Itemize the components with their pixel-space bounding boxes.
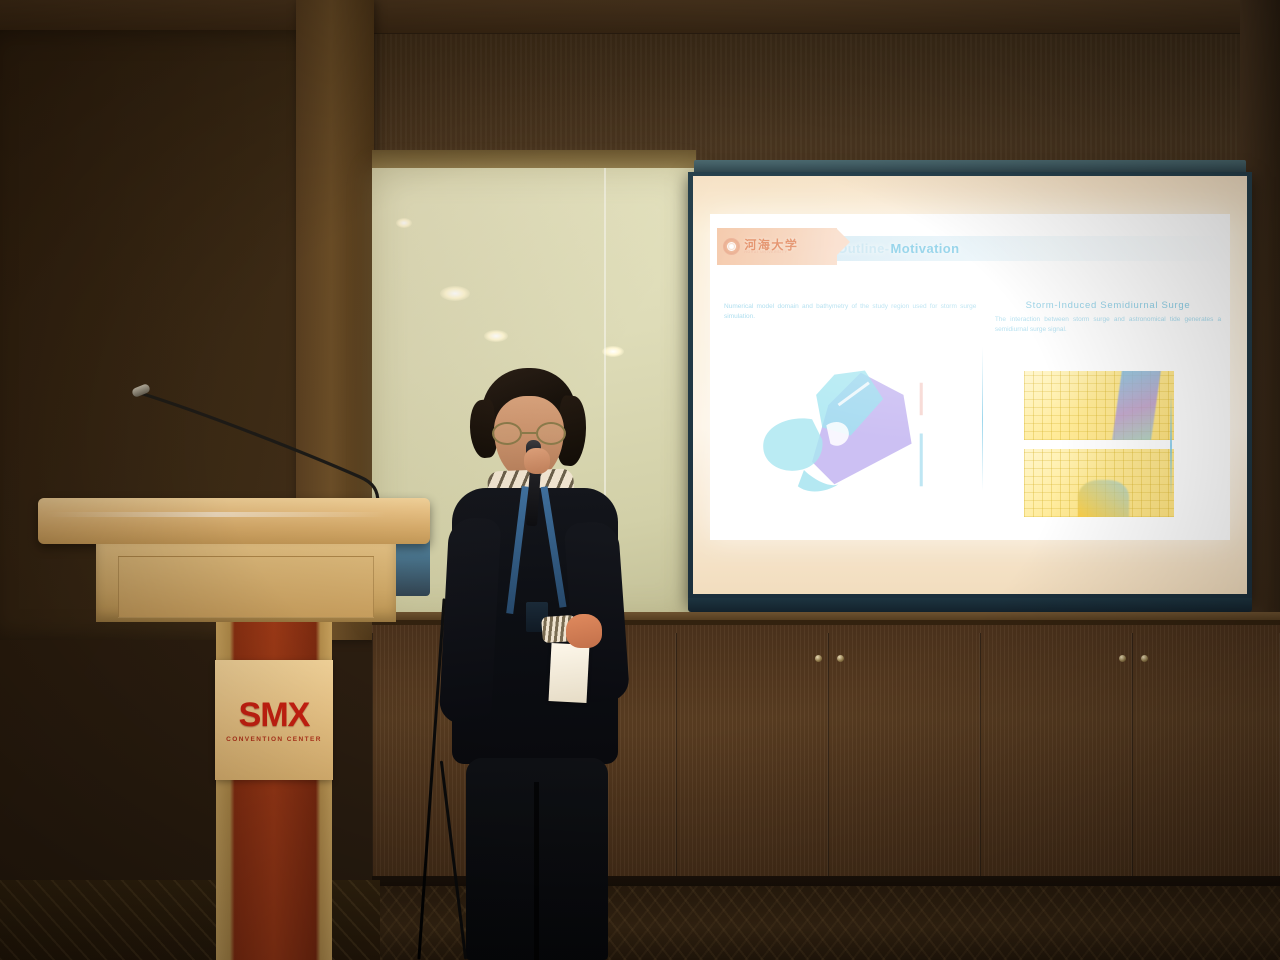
time-series-panels — [1024, 371, 1174, 521]
eyeglass-bridge — [522, 432, 536, 434]
presenter-arm-left — [439, 517, 502, 725]
cabinet-knob-icon[interactable] — [837, 655, 844, 662]
conference-presentation-photo: Outline- Motivation 河海大学 HOHAI UNIVERSIT… — [0, 0, 1280, 960]
screen-surface: Outline- Motivation 河海大学 HOHAI UNIVERSIT… — [693, 176, 1247, 594]
eyeglass-lens-right — [536, 422, 566, 445]
slide-right-column: Storm-Induced Semidiurnal Surge The inte… — [991, 298, 1225, 539]
screen-frame: Outline- Motivation 河海大学 HOHAI UNIVERSIT… — [688, 172, 1252, 603]
cabinet-knob-icon[interactable] — [1141, 655, 1148, 662]
venue-brand-name: SMX — [239, 698, 310, 732]
presentation-slide: Outline- Motivation 河海大学 HOHAI UNIVERSIT… — [710, 214, 1231, 540]
chart-colorbar — [1170, 392, 1172, 500]
cabinet-knob-icon[interactable] — [815, 655, 822, 662]
slide-title-motivation: Motivation — [891, 241, 960, 256]
presenter — [430, 362, 650, 960]
slide-body: Numerical model domain and bathymetry of… — [710, 298, 1231, 539]
right-body-text: The interaction between storm surge and … — [991, 311, 1225, 335]
university-logo-banner: 河海大学 HOHAI UNIVERSITY — [717, 228, 837, 265]
university-seal-icon — [723, 238, 740, 255]
eyeglass-lens-left — [492, 422, 522, 445]
paper-notes — [549, 643, 590, 703]
cabinet-door[interactable] — [980, 633, 1132, 877]
presenter-hand-on-mic — [524, 448, 550, 474]
glass-partition-header — [372, 150, 696, 170]
cabinet-door[interactable] — [828, 633, 980, 877]
cabinet-knob-icon[interactable] — [1119, 655, 1126, 662]
podium-top — [38, 498, 430, 544]
right-section-heading: Storm-Induced Semidiurnal Surge — [991, 298, 1225, 311]
downlight-icon — [484, 330, 508, 342]
slide-header: Outline- Motivation 河海大学 HOHAI UNIVERSIT… — [710, 214, 1231, 299]
chart-panel-top — [1024, 371, 1174, 440]
presenter-leg-separation — [534, 782, 539, 960]
projection-screen: Outline- Motivation 河海大学 HOHAI UNIVERSIT… — [688, 160, 1252, 615]
cabinet-door[interactable] — [676, 633, 828, 877]
chart-panel-bottom — [1024, 449, 1174, 518]
wall-top-band — [0, 0, 1280, 34]
coastal-domain-map — [741, 361, 944, 520]
podium-body-panel — [118, 556, 374, 618]
screen-bottom-bar — [688, 598, 1252, 612]
venue-brand-subtitle: CONVENTION CENTER — [226, 736, 322, 743]
downlight-icon — [602, 346, 624, 357]
downlight-icon — [396, 218, 412, 228]
cabinet-door[interactable] — [1132, 633, 1280, 877]
slide-left-column: Numerical model domain and bathymetry of… — [720, 298, 980, 539]
slide-column-divider — [982, 347, 983, 492]
podium-top-highlight — [46, 512, 386, 517]
presenter-hand — [566, 614, 602, 648]
chart-trace — [1078, 480, 1129, 517]
slide-title: Outline- Motivation — [837, 236, 959, 261]
venue-logo-sign: SMX CONVENTION CENTER — [215, 660, 333, 780]
left-body-text: Numerical model domain and bathymetry of… — [720, 298, 980, 322]
downlight-icon — [440, 286, 470, 301]
gooseneck-microphone — [130, 385, 390, 505]
